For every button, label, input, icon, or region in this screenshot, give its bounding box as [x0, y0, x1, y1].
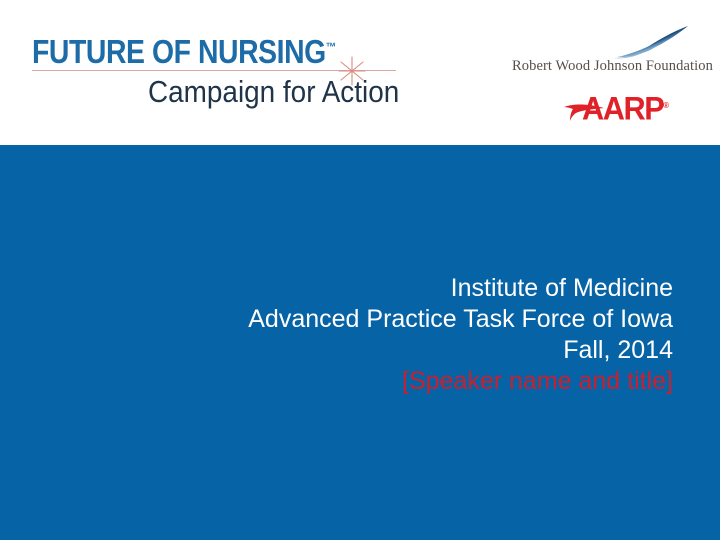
- slide-title-block: Institute of Medicine Advanced Practice …: [60, 273, 673, 397]
- slide-title-line-2: Advanced Practice Task Force of Iowa: [60, 304, 673, 335]
- speaker-placeholder-line: [Speaker name and title]: [60, 366, 673, 397]
- future-of-nursing-logo: FUTURE OF NURSING™ Campaign for Action: [30, 30, 400, 115]
- rwjf-logo: Robert Wood Johnson Foundation: [512, 25, 692, 75]
- fon-logo-divider: [32, 70, 396, 71]
- rwjf-wing-icon: [600, 25, 692, 59]
- presentation-slide: FUTURE OF NURSING™ Campaign for Action: [0, 0, 720, 540]
- slide-title-line-1: Institute of Medicine: [60, 273, 673, 304]
- fon-logo-title-text: FUTURE OF NURSING: [32, 33, 326, 70]
- fon-logo-title: FUTURE OF NURSING™: [32, 30, 336, 69]
- registered-trademark-icon: ®: [663, 101, 669, 110]
- fon-logo-subtitle: Campaign for Action: [148, 74, 399, 110]
- aarp-wordmark: AARP: [582, 91, 663, 127]
- slide-body: Institute of Medicine Advanced Practice …: [0, 145, 720, 540]
- aarp-logo: AARP®: [564, 92, 684, 124]
- aarp-logo-text: AARP®: [582, 90, 669, 125]
- rwjf-logo-text: Robert Wood Johnson Foundation: [512, 58, 713, 74]
- slide-header-band: FUTURE OF NURSING™ Campaign for Action: [0, 0, 720, 145]
- slide-title-line-3: Fall, 2014: [60, 335, 673, 366]
- trademark-icon: ™: [326, 40, 336, 54]
